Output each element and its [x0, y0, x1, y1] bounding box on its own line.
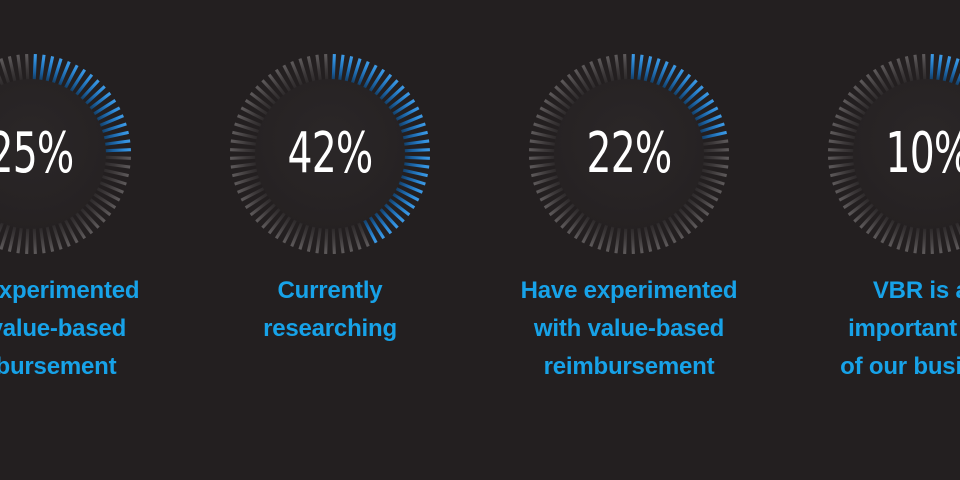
gauge-tick-empty — [616, 55, 620, 85]
gauge-tick-empty — [867, 75, 885, 99]
gauge-tick-filled — [87, 93, 111, 111]
gauge-tick-empty — [849, 197, 873, 215]
gauge-tick-empty — [854, 86, 876, 106]
gauge-tick-filled — [90, 100, 115, 116]
gauge-tick-filled — [389, 192, 414, 208]
gauge-tick-empty — [339, 223, 343, 253]
radial-gauge: 25% — [0, 52, 133, 256]
gauge-tick-filled — [688, 100, 713, 116]
gauge-tick-empty — [262, 206, 282, 228]
gauge-tick-filled — [382, 86, 404, 106]
gauge-tick-empty — [561, 206, 581, 228]
gauge-tick-filled — [676, 80, 696, 102]
gauge-tick-empty — [937, 223, 941, 253]
gauge-tick-empty — [854, 201, 876, 221]
gauge-tick-filled — [34, 54, 35, 84]
gauge-label: Have experimented with value-based reimb… — [0, 272, 181, 386]
gauge-tick-empty — [625, 224, 626, 254]
gauge-label: Currently researching — [180, 272, 480, 348]
gauge-tick-empty — [46, 222, 52, 251]
gauge-tick-empty — [638, 223, 642, 253]
gauge-tick-filled — [389, 100, 414, 116]
gauge-tick-empty — [632, 224, 633, 254]
gauge-block: 42% Currently researching — [180, 0, 480, 480]
gauge-tick-empty — [874, 213, 890, 238]
gauge-value: 25% — [0, 121, 111, 187]
gauge-tick-empty — [326, 224, 327, 254]
gauge-tick-empty — [550, 93, 574, 111]
gauge-tick-empty — [867, 210, 885, 234]
gauge-tick-filled — [667, 70, 683, 95]
gauge-tick-filled — [632, 54, 633, 84]
gauge-tick-empty — [672, 210, 690, 234]
gauge-tick-empty — [575, 70, 591, 95]
gauge-tick-empty — [251, 93, 275, 111]
gauge-tick-empty — [644, 222, 650, 251]
gauge-tick-filled — [937, 55, 941, 85]
gauge-tick-filled — [644, 56, 650, 85]
gauge-value: 10% — [848, 121, 960, 187]
gauge-tick-filled — [377, 80, 397, 102]
gauge-tick-filled — [345, 56, 351, 85]
gauge-tick-filled — [943, 56, 949, 85]
gauge-block: 10% VBR is an important part of our busi… — [778, 0, 960, 480]
gauge-tick-empty — [844, 192, 869, 208]
gauge-tick-empty — [251, 197, 275, 215]
gauge-tick-empty — [685, 197, 709, 215]
gauge-tick-empty — [74, 210, 92, 234]
gauge-tick-empty — [550, 197, 574, 215]
gauge-tick-empty — [844, 100, 869, 116]
gauge-tick-filled — [40, 55, 44, 85]
gauge-tick-empty — [27, 224, 28, 254]
gauge-tick-empty — [568, 210, 586, 234]
gauge-tick-filled — [386, 93, 410, 111]
gauge-tick-empty — [561, 80, 581, 102]
gauge-tick-empty — [269, 75, 287, 99]
gauge-value: 42% — [250, 121, 409, 187]
gauge-tick-empty — [90, 192, 115, 208]
gauge-tick-empty — [555, 201, 577, 221]
gauge-tick-empty — [40, 223, 44, 253]
gauge-tick-empty — [667, 213, 683, 238]
gauge-tick-empty — [676, 206, 696, 228]
gauge-tick-empty — [575, 213, 591, 238]
gauge-tick-empty — [18, 223, 22, 253]
gauge-tick-filled — [386, 197, 410, 215]
gauge-tick-empty — [256, 201, 278, 221]
gauge-tick-empty — [874, 70, 890, 95]
gauge-tick-empty — [545, 100, 570, 116]
gauge-tick-empty — [333, 224, 334, 254]
gauge-tick-empty — [262, 80, 282, 102]
gauge-tick-empty — [607, 222, 613, 251]
gauge-tick-empty — [308, 222, 314, 251]
gauge-tick-filled — [681, 86, 703, 106]
gauge-tick-empty — [943, 222, 949, 251]
gauge-tick-empty — [906, 222, 912, 251]
gauge-tick-filled — [333, 54, 334, 84]
gauge-tick-empty — [860, 80, 880, 102]
gauge-tick-empty — [924, 54, 925, 84]
gauge-tick-filled — [78, 80, 98, 102]
gauge-tick-filled — [368, 213, 384, 238]
gauge-tick-empty — [906, 56, 912, 85]
gauge-tick-filled — [685, 93, 709, 111]
gauge-tick-empty — [931, 224, 932, 254]
gauge-block: 22% Have experimented with value-based r… — [479, 0, 779, 480]
gauge-tick-filled — [373, 210, 391, 234]
gauge-tick-empty — [915, 55, 919, 85]
gauge-tick-empty — [317, 223, 321, 253]
gauge-tick-empty — [9, 56, 15, 85]
gauge-tick-empty — [545, 192, 570, 208]
radial-gauge: 10% — [826, 52, 960, 256]
gauge-tick-empty — [83, 201, 105, 221]
gauge-tick-empty — [246, 100, 271, 116]
infographic-stage: 25% Have experimented with value-based r… — [0, 0, 960, 480]
gauge-tick-empty — [681, 201, 703, 221]
gauge-tick-empty — [849, 93, 873, 111]
gauge-tick-filled — [368, 70, 384, 95]
gauge-tick-empty — [34, 224, 35, 254]
gauge-tick-empty — [625, 54, 626, 84]
gauge-tick-empty — [269, 210, 287, 234]
gauge-tick-empty — [276, 70, 292, 95]
gauge-tick-filled — [382, 201, 404, 221]
gauge-tick-empty — [326, 54, 327, 84]
radial-gauge: 42% — [228, 52, 432, 256]
gauge-tick-filled — [339, 55, 343, 85]
gauge-tick-empty — [345, 222, 351, 251]
gauge-tick-empty — [924, 224, 925, 254]
gauge-tick-empty — [616, 223, 620, 253]
gauge-tick-empty — [246, 192, 271, 208]
gauge-tick-filled — [46, 56, 52, 85]
gauge-tick-empty — [18, 55, 22, 85]
gauge-tick-empty — [915, 223, 919, 253]
gauge-tick-filled — [931, 54, 932, 84]
gauge-value: 22% — [549, 121, 708, 187]
radial-gauge: 22% — [527, 52, 731, 256]
gauge-label: VBR is an important part of our business — [778, 272, 960, 386]
gauge-label: Have experimented with value-based reimb… — [479, 272, 779, 386]
gauge-tick-empty — [555, 86, 577, 106]
gauge-tick-empty — [256, 86, 278, 106]
gauge-tick-empty — [860, 206, 880, 228]
gauge-tick-filled — [83, 86, 105, 106]
gauge-tick-empty — [607, 56, 613, 85]
gauge-tick-filled — [638, 55, 642, 85]
gauge-tick-filled — [373, 75, 391, 99]
gauge-tick-empty — [27, 54, 28, 84]
gauge-tick-empty — [308, 56, 314, 85]
gauge-tick-empty — [688, 192, 713, 208]
gauge-block: 25% Have experimented with value-based r… — [0, 0, 181, 480]
gauge-tick-filled — [74, 75, 92, 99]
gauge-tick-empty — [69, 213, 85, 238]
gauge-tick-empty — [568, 75, 586, 99]
gauge-tick-filled — [377, 206, 397, 228]
gauge-tick-empty — [317, 55, 321, 85]
gauge-tick-empty — [78, 206, 98, 228]
gauge-tick-filled — [69, 70, 85, 95]
gauge-tick-filled — [672, 75, 690, 99]
gauge-tick-empty — [276, 213, 292, 238]
gauge-tick-empty — [9, 222, 15, 251]
gauge-tick-empty — [87, 197, 111, 215]
